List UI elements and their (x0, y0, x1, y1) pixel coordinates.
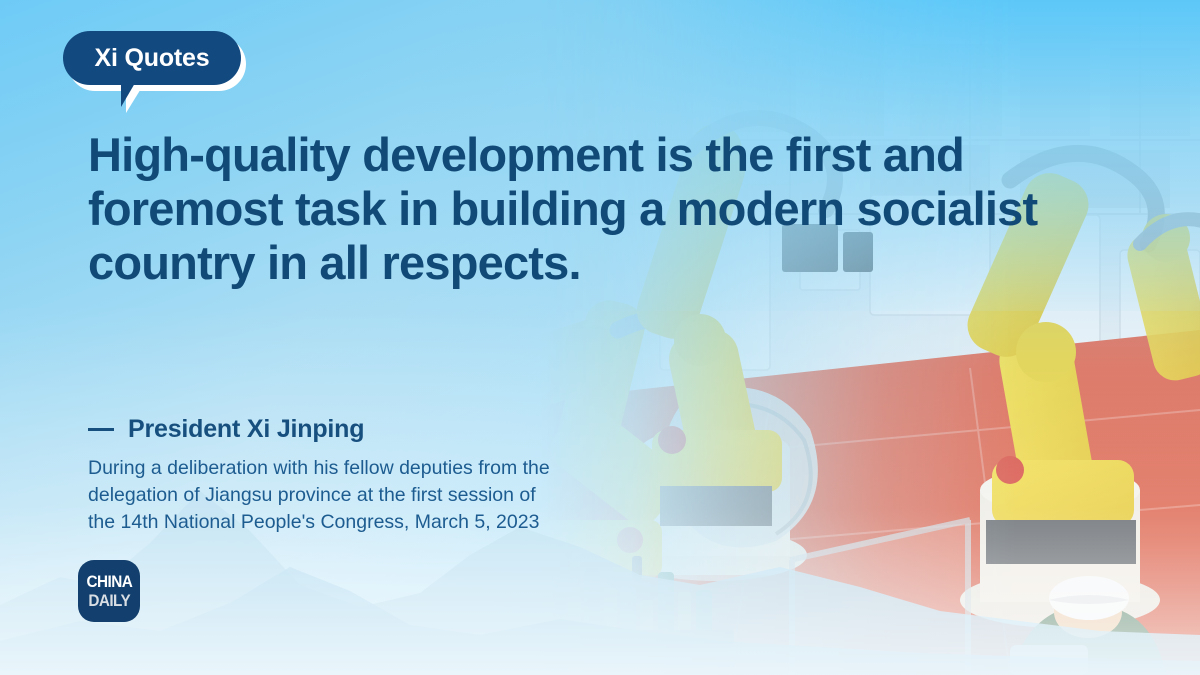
attribution-dash-icon (88, 428, 114, 431)
caption-line-1: During a deliberation with his fellow de… (88, 455, 648, 482)
logo-line-china: CHINA (86, 573, 132, 590)
logo-line-daily: DAILY (88, 592, 130, 609)
headline-line-1: High-quality development is the first an… (88, 128, 1088, 182)
quote-poster: Xi Quotes High-quality development is th… (0, 0, 1200, 675)
badge-bubble[interactable]: Xi Quotes (63, 31, 241, 85)
quote-attribution: President Xi Jinping (88, 415, 364, 444)
badge-tail-icon (121, 83, 135, 107)
china-daily-logo[interactable]: CHINA DAILY (78, 560, 140, 622)
headline-line-2: foremost task in building a modern socia… (88, 182, 1088, 236)
badge-label: Xi Quotes (95, 46, 210, 71)
xi-quotes-badge[interactable]: Xi Quotes (63, 31, 241, 85)
caption-line-2: delegation of Jiangsu province at the fi… (88, 482, 648, 509)
quote-caption: During a deliberation with his fellow de… (88, 455, 648, 536)
headline-line-3: country in all respects. (88, 236, 1088, 290)
attribution-name: President Xi Jinping (128, 415, 364, 444)
caption-line-3: the 14th National People's Congress, Mar… (88, 509, 648, 536)
quote-headline: High-quality development is the first an… (88, 128, 1088, 290)
